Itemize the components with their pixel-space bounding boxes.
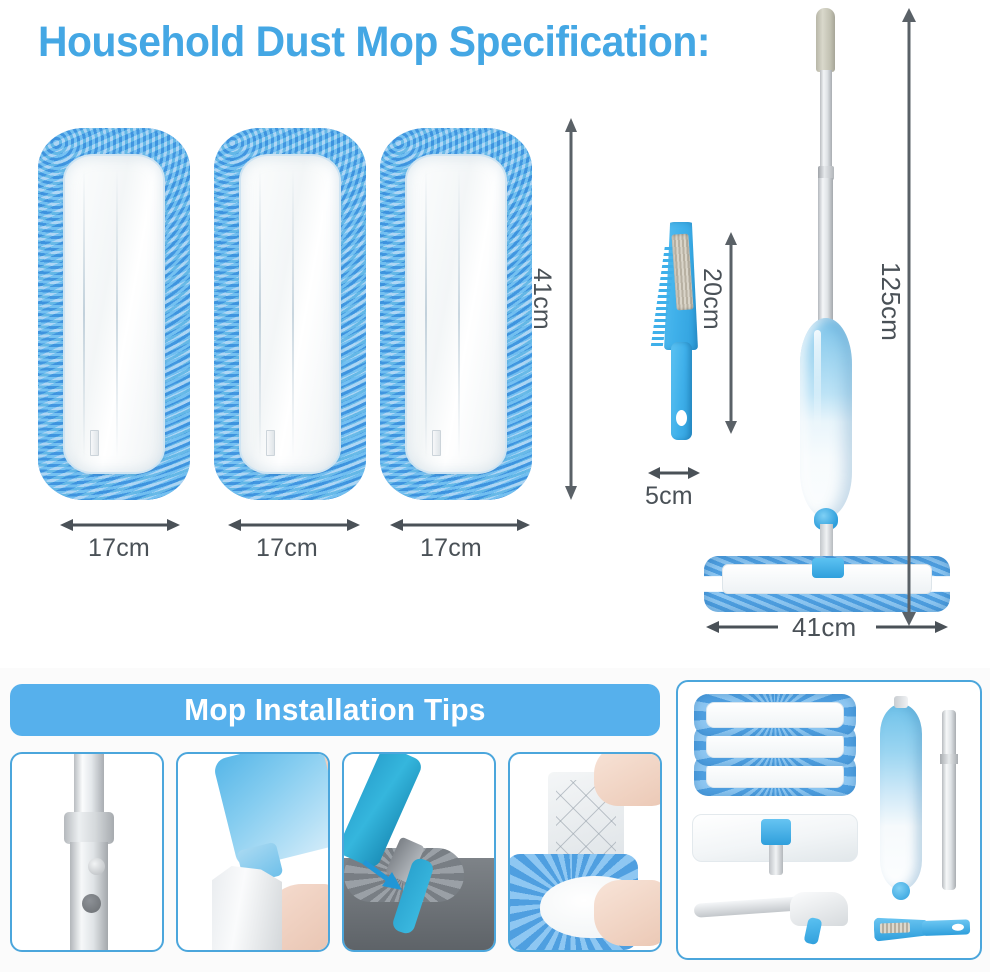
dimension-label-pad-width-2: 17cm [256, 534, 318, 563]
bottle-cap [894, 696, 908, 708]
dimension-label-mop-height: 125cm [875, 262, 906, 341]
handle-bar [694, 896, 805, 918]
component-mop-base-plate [692, 814, 858, 862]
direction-arrow-icon [362, 860, 406, 894]
component-scraper-tool [874, 912, 971, 945]
mop-pad-core [239, 154, 341, 474]
tip-photo-attach-scraper-tool [342, 752, 496, 952]
pole-ring [940, 754, 958, 764]
care-label-tag [266, 430, 275, 456]
tip-photo-insert-spray-bottle [176, 752, 330, 952]
dimension-label-scraper-width: 5cm [645, 482, 693, 511]
specification-section: Household Dust Mop Specification: 17cm [0, 0, 990, 668]
mop-pole-lower [818, 178, 833, 328]
dimension-label-pad-height: 41cm [527, 268, 556, 330]
tips-banner-label: Mop Installation Tips [184, 692, 485, 728]
spray-mop-assembled [690, 0, 960, 640]
tips-banner: Mop Installation Tips [10, 684, 660, 736]
mop-pad-core [405, 154, 507, 474]
pole-adjust-hole [82, 894, 101, 913]
mop-pad-2 [214, 128, 366, 500]
mop-spray-bottle [800, 318, 852, 518]
base-plate-stub [769, 843, 783, 875]
component-spray-bottle [880, 704, 922, 890]
care-label-tag [432, 430, 441, 456]
care-label-tag [90, 430, 99, 456]
pole-locking-collar [64, 812, 114, 844]
dimension-arrow-pad-width-1 [60, 516, 180, 534]
mop-pad-3 [380, 128, 532, 500]
mop-pad-core [706, 702, 844, 728]
dimension-arrow-pad-width-3 [390, 516, 530, 534]
hand-holding-pad [594, 880, 662, 946]
mop-pole-upper [820, 70, 832, 170]
hand-holding-plate [594, 752, 662, 806]
bottle-nozzle [892, 882, 910, 900]
dimension-arrow-mop-width-right [876, 618, 948, 636]
pole-spring-button [88, 858, 105, 875]
bottle-cradle [212, 866, 282, 952]
tip-photo-assemble-pole-joint [10, 752, 164, 952]
mop-grip [816, 8, 835, 72]
scraper-hang-hole [676, 410, 687, 426]
installation-tips-section: Mop Installation Tips [0, 668, 990, 972]
mop-head-connector [812, 558, 844, 578]
tip-photo-attach-mop-pad [508, 752, 662, 952]
page-title: Household Dust Mop Specification: [38, 18, 710, 67]
pole-upper-segment [74, 754, 104, 818]
dimension-label-pad-width-3: 17cm [420, 534, 482, 563]
component-extension-pole [942, 710, 956, 890]
dimension-arrow-pad-height [562, 118, 580, 500]
component-mop-pad-1 [694, 694, 856, 736]
dimension-arrow-mop-width-left [706, 618, 778, 636]
dimension-arrow-pad-width-2 [228, 516, 360, 534]
mop-pad-core [63, 154, 165, 474]
scraper-mesh-grid [880, 922, 910, 933]
component-handle-with-trigger [694, 888, 854, 944]
dimension-label-mop-width: 41cm [792, 612, 856, 643]
mop-pad-1 [38, 128, 190, 500]
base-plate-clip [761, 819, 791, 845]
dimension-label-pad-width-1: 17cm [88, 534, 150, 563]
components-overview-panel [676, 680, 982, 960]
